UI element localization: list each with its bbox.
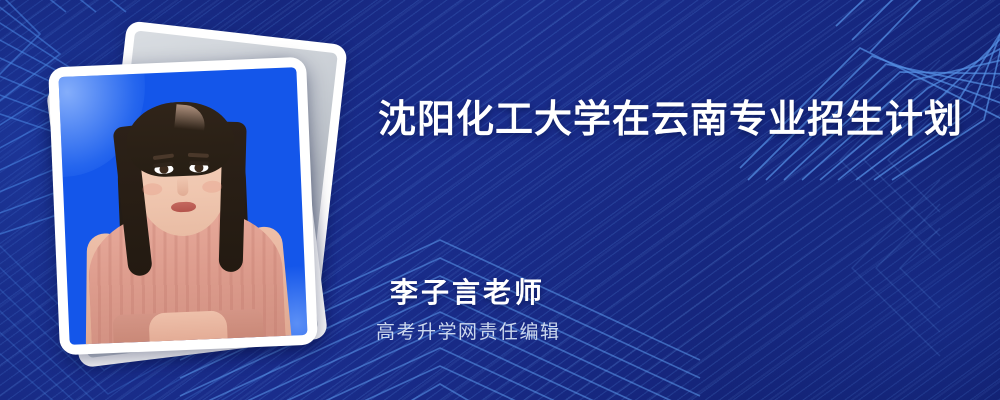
avatar [58,67,307,345]
article-header-banner: 沈阳化工大学在云南专业招生计划 李子言老师 高考升学网责任编辑 [0,0,1000,400]
background-glow-right [700,100,1000,400]
author-photo-stack [48,38,348,368]
portrait-illustration [58,67,307,345]
page-title: 沈阳化工大学在云南专业招生计划 [378,96,963,144]
author-role-label: 高考升学网责任编辑 [376,320,561,346]
author-photo-card [48,57,318,356]
portrait-hands [148,310,227,343]
portrait-nose [177,176,189,196]
portrait-eyelid-right [189,161,209,166]
author-name: 李子言老师 [390,276,545,310]
